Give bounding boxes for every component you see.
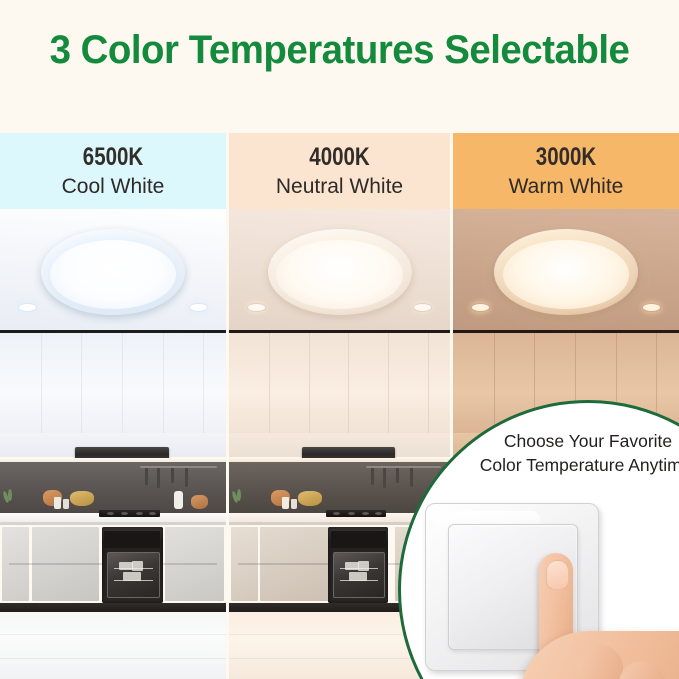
panel-cool-white[interactable]: 6500K Cool White	[0, 133, 226, 679]
ceiling-scene	[0, 209, 226, 330]
toe-kick	[0, 603, 226, 612]
cooktop-icon	[326, 510, 386, 517]
gold-teapot-icon	[298, 491, 322, 506]
callout-line-1: Choose Your Favorite	[504, 431, 672, 451]
wall-band	[0, 330, 226, 442]
ceiling-lamp-icon	[268, 229, 412, 315]
utensil-rail-icon	[140, 466, 217, 468]
plant-icon	[2, 491, 15, 513]
kelvin-label: 6500K	[20, 143, 205, 172]
color-name-label: Neutral White	[229, 175, 450, 199]
kelvin-label: 4000K	[249, 143, 430, 172]
bottle-icon	[174, 491, 183, 509]
title-bar: 3 Color Temperatures Selectable	[0, 0, 679, 133]
plant-icon	[231, 491, 244, 513]
jar-icon	[63, 499, 69, 509]
product-feature-image: 3 Color Temperatures Selectable 6500K Co…	[0, 0, 679, 679]
kitchen-scene	[0, 433, 226, 679]
ceiling-scene	[453, 209, 679, 330]
ceiling-lamp-icon	[41, 229, 185, 315]
wall-band	[229, 330, 450, 442]
copper-pan-icon	[191, 495, 208, 509]
oven-icon	[102, 527, 163, 603]
jar-icon	[282, 497, 289, 509]
page-title: 3 Color Temperatures Selectable	[14, 28, 666, 73]
callout-heading: Choose Your Favorite Color Temperature A…	[401, 429, 679, 477]
panel-header-neutral-white: 4000K Neutral White	[229, 133, 450, 209]
callout-circle: Choose Your Favorite Color Temperature A…	[398, 400, 679, 679]
fingernail	[546, 560, 569, 590]
jar-icon	[291, 499, 297, 509]
cooktop-icon	[99, 510, 160, 517]
floor	[0, 612, 226, 679]
callout-line-2: Color Temperature Anytime!	[401, 453, 679, 477]
ceiling-scene	[229, 209, 450, 330]
panel-header-cool-white: 6500K Cool White	[0, 133, 226, 209]
color-name-label: Cool White	[0, 175, 226, 199]
ceiling-lamp-icon	[494, 229, 638, 315]
gold-teapot-icon	[70, 491, 94, 506]
oven-icon	[328, 527, 388, 603]
jar-icon	[54, 497, 61, 509]
kelvin-label: 3000K	[473, 143, 658, 172]
color-name-label: Warm White	[453, 175, 679, 199]
pressing-hand-icon	[519, 553, 679, 679]
panel-header-warm-white: 3000K Warm White	[453, 133, 679, 209]
